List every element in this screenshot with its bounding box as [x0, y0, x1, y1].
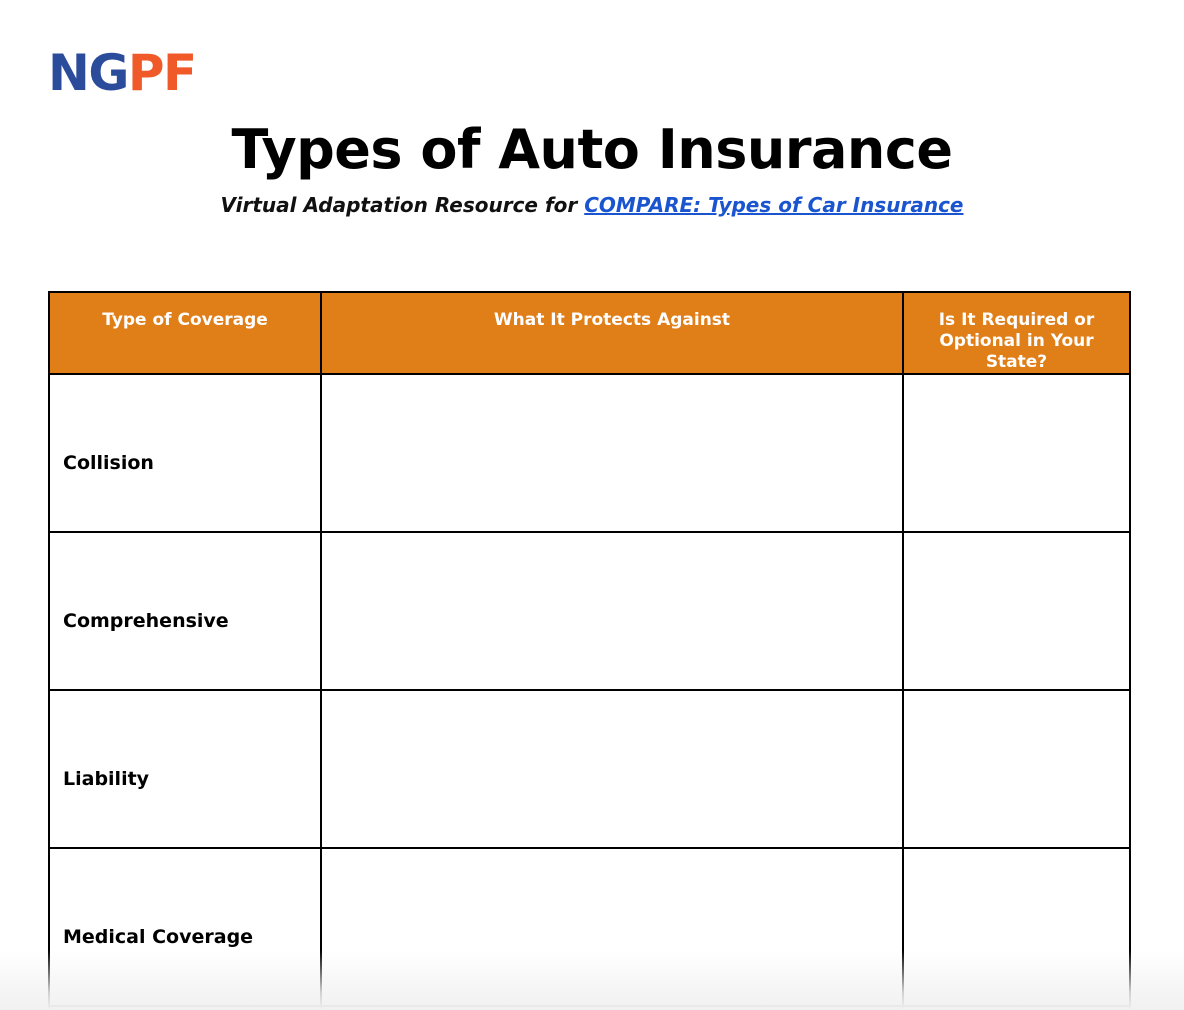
row-label-collision: Collision	[63, 451, 154, 475]
cell-coverage-type: Medical Coverage	[49, 848, 321, 1006]
cell-protects-against[interactable]	[321, 532, 903, 690]
cell-required-or-optional[interactable]	[903, 374, 1130, 532]
answer-input-protects-against-medical-coverage[interactable]	[322, 849, 902, 1005]
row-label-comprehensive: Comprehensive	[63, 609, 229, 633]
answer-input-protects-against-liability[interactable]	[322, 691, 902, 847]
table-row-partial	[49, 1006, 1130, 1010]
answer-input-required-optional-comprehensive[interactable]	[904, 533, 1129, 689]
column-header-required-or-optional: Is It Required or Optional in Your State…	[903, 292, 1130, 374]
answer-input-required-optional-medical-coverage[interactable]	[904, 849, 1129, 1005]
table-row: Comprehensive	[49, 532, 1130, 690]
table-header-row: Type of Coverage What It Protects Agains…	[49, 292, 1130, 374]
logo-text-pf: PF	[128, 44, 196, 102]
subtitle-prefix: Virtual Adaptation Resource for	[220, 193, 584, 217]
cell-coverage-type: Collision	[49, 374, 321, 532]
column-header-type-of-coverage: Type of Coverage	[49, 292, 321, 374]
coverage-table-wrap: Type of Coverage What It Protects Agains…	[48, 291, 1129, 1010]
cell-required-or-optional[interactable]	[903, 532, 1130, 690]
cell-coverage-type-partial	[49, 1006, 321, 1010]
answer-input-required-optional-collision[interactable]	[904, 375, 1129, 531]
answer-input-required-optional-liability[interactable]	[904, 691, 1129, 847]
cell-protects-against[interactable]	[321, 374, 903, 532]
column-header-what-it-protects-against-label: What It Protects Against	[322, 293, 902, 331]
logo-text-ng: NG	[48, 44, 128, 102]
row-label-liability: Liability	[63, 767, 149, 791]
table-head: Type of Coverage What It Protects Agains…	[49, 292, 1130, 374]
cell-protects-against[interactable]	[321, 848, 903, 1006]
table-row: Medical Coverage	[49, 848, 1130, 1006]
title-block: Types of Auto Insurance Virtual Adaptati…	[0, 118, 1184, 218]
cell-protects-against[interactable]	[321, 690, 903, 848]
ngpf-logo: NGPF	[48, 48, 196, 98]
answer-input-protects-against-collision[interactable]	[322, 375, 902, 531]
cell-required-or-optional[interactable]	[903, 848, 1130, 1006]
table-body: Collision Comprehensive	[49, 374, 1130, 1010]
cell-required-or-optional[interactable]	[903, 690, 1130, 848]
page-subtitle: Virtual Adaptation Resource for COMPARE:…	[0, 192, 1184, 218]
table-row: Liability	[49, 690, 1130, 848]
cell-required-or-optional-partial	[903, 1006, 1130, 1010]
answer-input-protects-against-comprehensive[interactable]	[322, 533, 902, 689]
column-header-type-of-coverage-label: Type of Coverage	[50, 293, 320, 331]
document-page: NGPF Types of Auto Insurance Virtual Ada…	[0, 0, 1184, 1010]
row-label-medical-coverage: Medical Coverage	[63, 925, 253, 949]
cell-coverage-type: Comprehensive	[49, 532, 321, 690]
cell-coverage-type: Liability	[49, 690, 321, 848]
page-title: Types of Auto Insurance	[0, 118, 1184, 182]
table-row: Collision	[49, 374, 1130, 532]
column-header-required-or-optional-label: Is It Required or Optional in Your State…	[904, 293, 1129, 373]
compare-resource-link[interactable]: COMPARE: Types of Car Insurance	[584, 193, 963, 217]
coverage-table: Type of Coverage What It Protects Agains…	[48, 291, 1131, 1010]
column-header-what-it-protects-against: What It Protects Against	[321, 292, 903, 374]
cell-protects-against-partial	[321, 1006, 903, 1010]
